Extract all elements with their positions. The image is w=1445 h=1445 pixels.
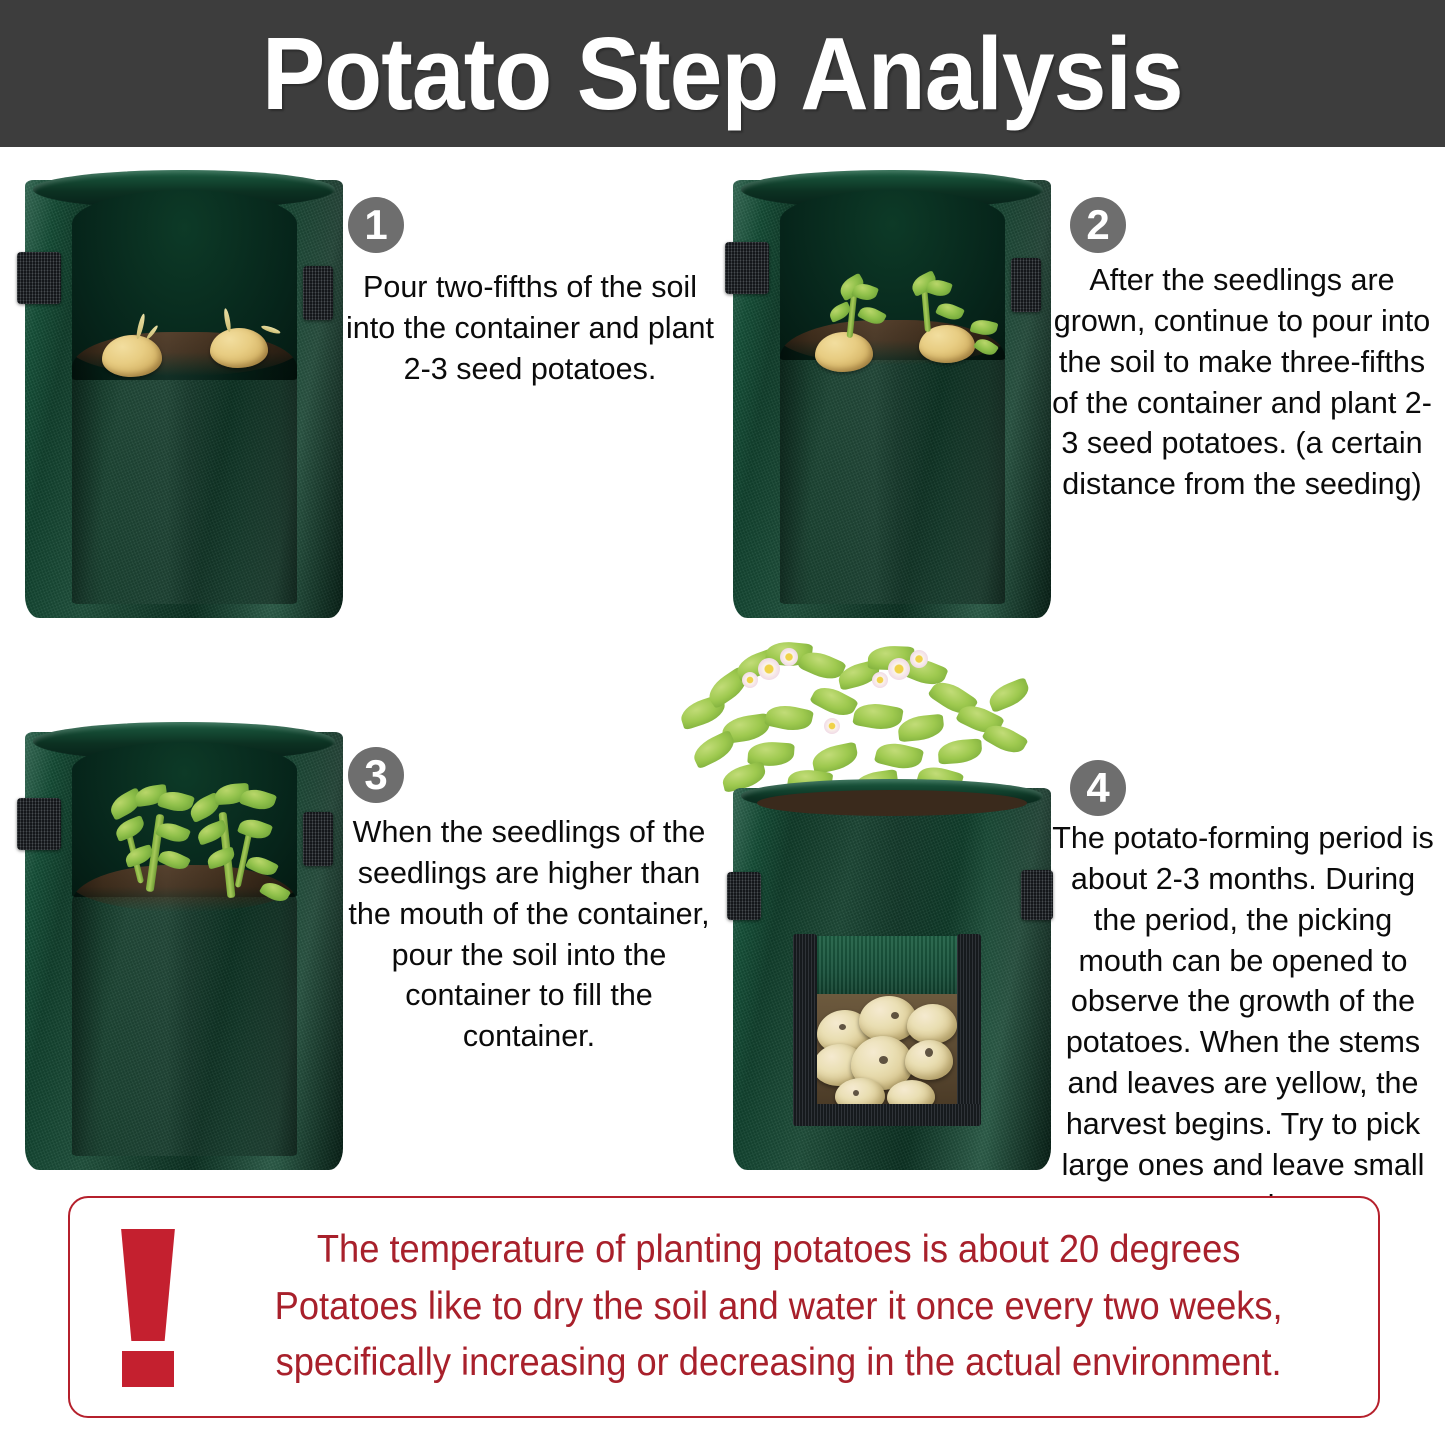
bag-handle-left [17,252,61,304]
harvest-window-opening [813,994,961,1108]
bag-handle-right [1011,258,1041,312]
potato-spot [879,1056,888,1064]
potato-flower [910,650,928,668]
potato-spot [925,1048,933,1057]
foliage-leaf [852,700,904,733]
step-4: 4 The potato-forming period is about 2-3… [722,700,1445,1200]
seed-potato [815,332,873,372]
exclamation-icon [100,1223,196,1391]
step-2: 2 After the seedlings are grown, continu… [722,150,1445,650]
page-title: Potato Step Analysis [262,22,1183,125]
foliage-leaf [764,701,814,734]
bag-handle-left [727,872,761,920]
foliage-leaf [897,714,945,743]
exclamation-dot [122,1351,174,1387]
potato-spot [853,1090,859,1096]
seed-potato [102,335,162,377]
harvest-window-flap[interactable] [799,936,971,1002]
window-strap-right [957,934,981,1126]
bag-handle-left [725,242,769,294]
potato-flower [824,718,840,734]
grow-bag-step-4 [733,788,1051,1170]
seed-potato [210,328,268,368]
foliage-leaf [810,741,860,774]
step-badge-4: 4 [1070,760,1126,816]
potato-flower [780,648,798,666]
foliage-leaf [689,730,739,770]
grow-bag-step-1 [25,180,343,618]
grow-bag-step-2 [733,180,1051,618]
bag-handle-right [1021,870,1053,920]
harvested-potato [907,1004,957,1044]
potato-flower [872,672,888,688]
window-strap-left [793,934,817,1126]
potato-spot [891,1012,899,1019]
exclamation-bar [116,1229,180,1341]
step-1: 1 Pour two-fifths of the soil into the c… [0,150,722,650]
foliage-leaf [874,739,924,773]
warning-box: The temperature of planting potatoes is … [68,1196,1380,1418]
potato-flower [888,658,910,680]
warning-text: The temperature of planting potatoes is … [237,1222,1336,1392]
grow-bag-step-3 [25,732,343,1170]
soil-mass [72,865,297,1156]
soil-at-rim [757,790,1027,816]
bag-handle-left [17,798,61,850]
harvested-potato [905,1040,953,1080]
header-bar: Potato Step Analysis [0,0,1445,147]
step-badge-1: 1 [348,197,404,253]
bag-handle-right [303,812,333,866]
potato-flower [758,658,780,680]
step-badge-2: 2 [1070,197,1126,253]
bag-handle-right [303,266,333,320]
step-badge-3: 3 [348,747,404,803]
step-description-2: After the seedlings are grown, continue … [1052,260,1432,505]
potato-spot [839,1024,846,1030]
foliage-leaf [937,738,982,764]
foliage-leaf [985,677,1032,713]
step-description-3: When the seedlings of the seedlings are … [338,812,720,1057]
soil-mass [72,332,297,604]
step-description-1: Pour two-fifths of the soil into the con… [345,267,715,390]
step-description-4: The potato-forming period is about 2-3 m… [1052,818,1434,1227]
window-strap-bottom [793,1104,981,1126]
soil-mass [780,320,1005,604]
potato-flower [742,672,758,688]
step-3: 3 When the seedlings of the seedlings ar… [0,700,722,1200]
